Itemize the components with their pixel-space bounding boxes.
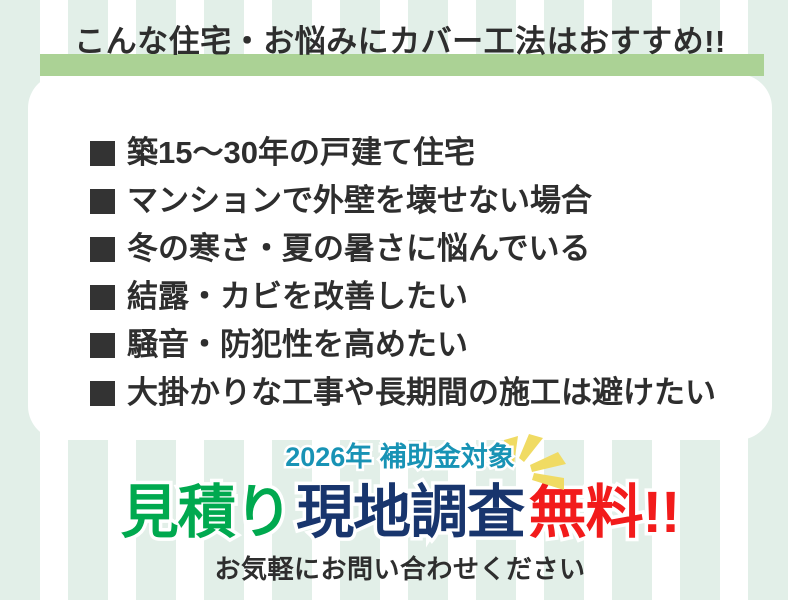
list-item-label: 騒音・防犯性を高めたい bbox=[127, 329, 468, 360]
list-item-label: 築15〜30年の戸建て住宅 bbox=[127, 137, 475, 168]
list-item-label: 冬の寒さ・夏の暑さに悩んでいる bbox=[127, 233, 590, 264]
promo-block: 2026年 補助金対象 見積り 現地調査 無料!! お気軽にお問い合わせください bbox=[0, 444, 800, 582]
poster-canvas: 築15〜30年の戸建て住宅 マンションで外壁を壊せない場合 冬の寒さ・夏の暑さに… bbox=[0, 0, 800, 600]
list-item: 大掛かりな工事や長期間の施工は避けたい bbox=[90, 368, 750, 416]
subsidy-row: 2026年 補助金対象 bbox=[0, 444, 800, 482]
black-square-bullet-icon bbox=[90, 189, 115, 214]
contact-tagline: お気軽にお問い合わせください bbox=[0, 556, 800, 582]
black-square-bullet-icon bbox=[90, 381, 115, 406]
free-offer-row: 見積り 現地調査 無料!! bbox=[0, 484, 800, 546]
headline-block: こんな住宅・お悩みにカバー工法はおすすめ!! bbox=[0, 24, 800, 60]
list-item: 結露・カビを改善したい bbox=[90, 272, 750, 320]
list-item: 騒音・防犯性を高めたい bbox=[90, 320, 750, 368]
list-item: 築15〜30年の戸建て住宅 bbox=[90, 128, 750, 176]
page-title: こんな住宅・お悩みにカバー工法はおすすめ!! bbox=[74, 24, 726, 60]
site-survey-label: 現地調査 bbox=[296, 484, 524, 542]
list-item-label: 大掛かりな工事や長期間の施工は避けたい bbox=[127, 377, 716, 408]
subsidy-badge-label: 2026年 補助金対象 bbox=[285, 444, 515, 471]
list-item-label: 結露・カビを改善したい bbox=[127, 281, 468, 312]
black-square-bullet-icon bbox=[90, 141, 115, 166]
black-square-bullet-icon bbox=[90, 285, 115, 310]
free-label: 無料!! bbox=[529, 484, 680, 542]
benefits-list: 築15〜30年の戸建て住宅 マンションで外壁を壊せない場合 冬の寒さ・夏の暑さに… bbox=[90, 128, 750, 416]
black-square-bullet-icon bbox=[90, 333, 115, 358]
list-item-label: マンションで外壁を壊せない場合 bbox=[127, 185, 592, 216]
content-card: 築15〜30年の戸建て住宅 マンションで外壁を壊せない場合 冬の寒さ・夏の暑さに… bbox=[28, 74, 772, 440]
list-item: 冬の寒さ・夏の暑さに悩んでいる bbox=[90, 224, 750, 272]
black-square-bullet-icon bbox=[90, 237, 115, 262]
estimate-label: 見積り bbox=[121, 484, 292, 542]
list-item: マンションで外壁を壊せない場合 bbox=[90, 176, 750, 224]
